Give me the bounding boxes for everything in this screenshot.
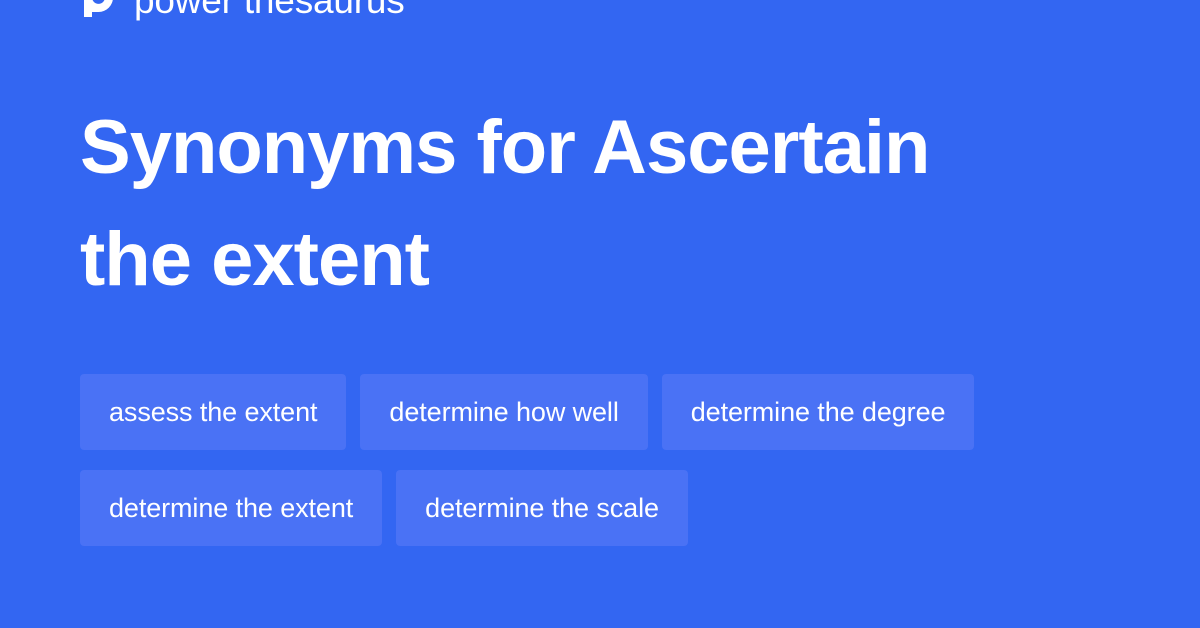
synonym-chip[interactable]: determine the extent xyxy=(80,470,382,546)
synonym-chip[interactable]: determine the degree xyxy=(662,374,975,450)
synonym-chip[interactable]: determine how well xyxy=(360,374,647,450)
synonym-chip[interactable]: determine the scale xyxy=(396,470,688,546)
brand-logo[interactable]: power thesaurus xyxy=(80,0,405,26)
synonym-list: assess the extent determine how well det… xyxy=(80,374,1140,546)
synonym-label: assess the extent xyxy=(109,399,317,426)
synonym-label: determine how well xyxy=(389,399,618,426)
synonym-label: determine the extent xyxy=(109,495,353,522)
power-thesaurus-p-logo-icon xyxy=(80,0,118,19)
brand-name: power thesaurus xyxy=(134,0,405,19)
synonym-chip[interactable]: assess the extent xyxy=(80,374,346,450)
synonym-label: determine the scale xyxy=(425,495,659,522)
synonym-label: determine the degree xyxy=(691,399,946,426)
page-title: Synonyms for Ascertain the extent xyxy=(80,92,1040,316)
